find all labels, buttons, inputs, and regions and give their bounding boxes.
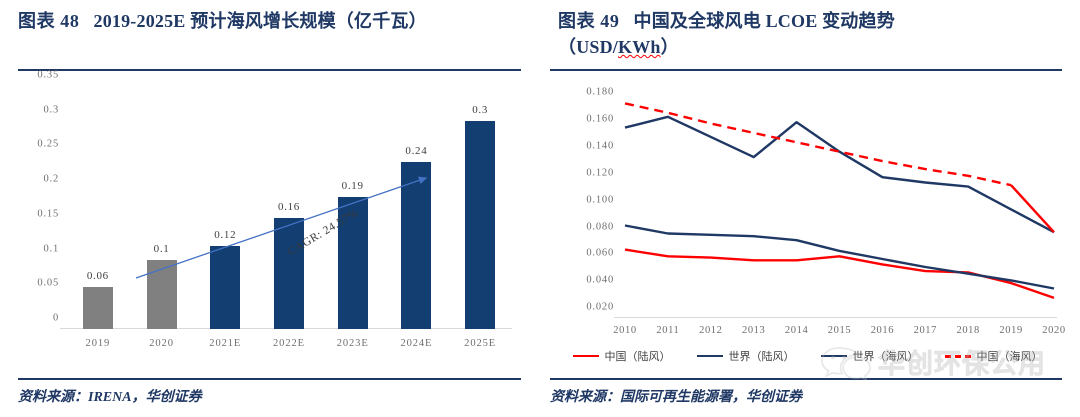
bar-chart-category[interactable]: 0.242024E [385,86,449,329]
line-chart-x-tick: 2013 [742,325,765,336]
bar-value-label: 0.24 [405,145,427,157]
bar-chart-y-tick: 0.15 [37,208,59,219]
line-chart-y-tick: 0.140 [586,141,614,152]
bar-value-label: 0.3 [472,104,488,116]
legend-label: 中国（陆风） [605,348,671,364]
figure-48-top-rule [18,69,521,71]
legend-swatch [821,355,847,357]
figure-49-title-unit-kwh: KWh [618,37,661,57]
figure-49-top-rule [550,69,1062,71]
bar-chart-x-tick: 2023E [337,338,369,349]
figure-48-bar-chart: 00.050.10.150.20.250.30.350.0620190.1202… [18,80,518,365]
line-chart-y-tick: 0.040 [586,275,614,286]
line-chart-x-tick: 2015 [828,325,851,336]
bar-chart-x-tick: 2020 [149,338,174,349]
bar[interactable] [83,287,113,329]
bar-chart-category[interactable]: 0.32025E [448,86,512,329]
bar[interactable] [465,121,495,329]
line-series-dashed [625,103,1011,185]
legend-swatch [945,355,971,358]
line-chart-y-tick: 0.100 [586,194,614,205]
figure-49-bottom-rule [550,378,1062,380]
line-chart-series-svg [622,90,1057,318]
figure-48-title: 图表 482019-2025E 预计海风增长规模（亿千瓦） [18,8,518,34]
bar[interactable] [147,260,177,329]
figure-49-line-chart: 0.0200.0400.0600.0800.1000.1200.1400.160… [550,80,1065,380]
line-chart-x-tick: 2018 [956,325,979,336]
bar-value-label: 0.12 [214,229,236,241]
figure-49-title-unit-post: ） [661,37,679,57]
bar-chart-category[interactable]: 0.062019 [66,86,130,329]
line-chart-y-tick: 0.180 [586,87,614,98]
bar-chart-category[interactable]: 0.12020 [130,86,194,329]
line-chart-baseline [614,317,1057,318]
bar-chart-y-tick: 0.1 [43,243,59,254]
bar-chart-category[interactable]: 0.122021E [193,86,257,329]
legend-item[interactable]: 世界（陆风） [697,348,795,364]
bar-chart-y-tick: 0.05 [37,278,59,289]
figure-49-panel: 图表 49中国及全球风电 LCOE 变动趋势 （USD/KWh） 0.0200.… [540,0,1080,417]
bar-chart-y-tick: 0.3 [43,104,59,115]
line-chart-legend: 中国（陆风）世界（陆风）世界（海风）中国（海风） [550,348,1065,364]
bar-value-label: 0.1 [154,243,170,255]
bar-chart-plot-area: 00.050.10.150.20.250.30.350.0620190.1202… [66,86,512,329]
line-chart-y-tick: 0.080 [586,221,614,232]
bar-chart-category[interactable]: 0.162022E [257,86,321,329]
legend-item[interactable]: 中国（陆风） [573,348,671,364]
line-series-solid [625,117,1054,232]
figure-49-source: 资料来源：国际可再生能源署，华创证券 [550,386,802,406]
figure-49-number: 图表 49 [558,11,620,31]
figure-48-title-text: 2019-2025E 预计海风增长规模（亿千瓦） [94,11,427,31]
line-chart-x-tick: 2012 [699,325,722,336]
figure-49-title: 图表 49中国及全球风电 LCOE 变动趋势 （USD/KWh） [558,8,1058,60]
figure-48-source: 资料来源：IRENA，华创证券 [18,386,202,406]
legend-label: 世界（陆风） [729,348,795,364]
legend-label: 中国（海风） [977,348,1043,364]
bar-chart-x-tick: 2022E [273,338,305,349]
bar-value-label: 0.06 [87,270,109,282]
line-chart-x-tick: 2020 [1042,325,1065,336]
line-chart-x-tick: 2014 [785,325,808,336]
line-chart-y-tick: 0.160 [586,114,614,125]
legend-swatch [573,355,599,357]
bar-chart-y-tick: 0 [53,313,59,324]
legend-item[interactable]: 中国（海风） [945,348,1043,364]
report-figures-page: 图表 482019-2025E 预计海风增长规模（亿千瓦） 00.050.10.… [0,0,1080,417]
line-chart-y-tick: 0.060 [586,248,614,259]
line-chart-x-tick: 2016 [871,325,894,336]
bar-value-label: 0.16 [278,201,300,213]
bar[interactable] [401,162,431,329]
bar-chart-x-tick: 2024E [400,338,432,349]
bar-chart-y-tick: 0.35 [37,70,59,81]
legend-item[interactable]: 世界（海风） [821,348,919,364]
figure-48-number: 图表 48 [18,11,80,31]
line-chart-x-tick: 2011 [656,325,679,336]
line-chart-y-tick: 0.020 [586,302,614,313]
line-chart-plot-area: 0.0200.0400.0600.0800.1000.1200.1400.160… [622,90,1057,318]
line-chart-y-tick: 0.120 [586,167,614,178]
bar[interactable] [274,218,304,329]
line-series-dashed [1011,185,1054,232]
legend-label: 世界（海风） [853,348,919,364]
figure-48-panel: 图表 482019-2025E 预计海风增长规模（亿千瓦） 00.050.10.… [0,0,530,417]
bar-chart-y-tick: 0.2 [43,174,59,185]
bar-chart-x-tick: 2021E [209,338,241,349]
line-series-solid [625,250,1054,298]
bar-value-label: 0.19 [342,180,364,192]
line-chart-x-tick: 2019 [999,325,1022,336]
figure-49-title-unit-pre: （USD/ [558,37,618,57]
bar-chart-x-tick: 2025E [464,338,496,349]
bar[interactable] [210,246,240,329]
figure-49-title-text: 中国及全球风电 LCOE 变动趋势 [634,11,895,31]
line-chart-x-tick: 2010 [613,325,636,336]
line-chart-x-tick: 2017 [914,325,937,336]
bar-chart-y-tick: 0.25 [37,139,59,150]
legend-swatch [697,355,723,357]
figure-48-bottom-rule [18,378,521,380]
bar-chart-x-tick: 2019 [86,338,111,349]
